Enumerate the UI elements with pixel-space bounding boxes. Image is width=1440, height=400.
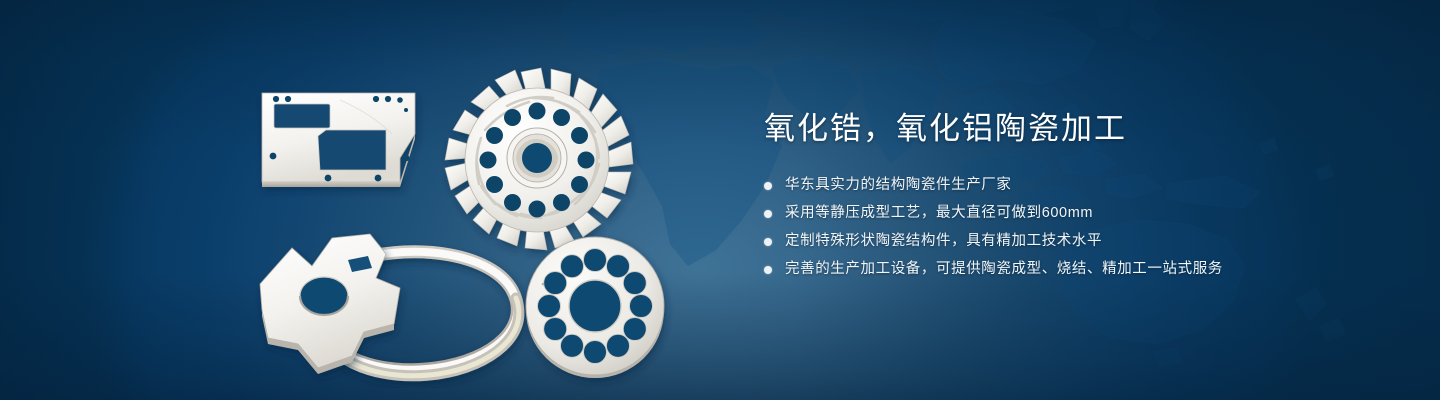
banner-headline: 氧化锆，氧化铝陶瓷加工	[764, 108, 1384, 150]
bullet-dot-icon	[764, 210, 772, 218]
feature-list-item: 华东具实力的结构陶瓷件生产厂家	[764, 174, 1384, 197]
banner-copy: 氧化锆，氧化铝陶瓷加工 华东具实力的结构陶瓷件生产厂家 采用等静压成型工艺，最大…	[764, 108, 1384, 286]
ceramic-cross-piece-part	[260, 234, 400, 374]
feature-text: 采用等静压成型工艺，最大直径可做到600mm	[785, 202, 1093, 225]
hero-banner: 氧化锆，氧化铝陶瓷加工 华东具实力的结构陶瓷件生产厂家 采用等静压成型工艺，最大…	[0, 0, 1440, 400]
feature-list-item: 采用等静压成型工艺，最大直径可做到600mm	[764, 202, 1384, 225]
ceramic-impeller-part	[445, 68, 633, 250]
feature-text: 完善的生产加工设备，可提供陶瓷成型、烧结、精加工一站式服务	[785, 258, 1223, 281]
feature-text: 定制特殊形状陶瓷结构件，具有精加工技术水平	[785, 230, 1102, 253]
feature-list-item: 定制特殊形状陶瓷结构件，具有精加工技术水平	[764, 230, 1384, 253]
feature-list: 华东具实力的结构陶瓷件生产厂家 采用等静压成型工艺，最大直径可做到600mm 定…	[764, 174, 1384, 281]
feature-text: 华东具实力的结构陶瓷件生产厂家	[785, 174, 1012, 197]
bullet-dot-icon	[764, 182, 772, 190]
ceramic-perforated-disc-part	[526, 237, 664, 378]
bullet-dot-icon	[764, 238, 772, 246]
ceramic-products-image	[240, 38, 690, 388]
feature-list-item: 完善的生产加工设备，可提供陶瓷成型、烧结、精加工一站式服务	[764, 258, 1384, 281]
ceramic-plate-part	[262, 93, 415, 187]
bullet-dot-icon	[764, 266, 772, 274]
